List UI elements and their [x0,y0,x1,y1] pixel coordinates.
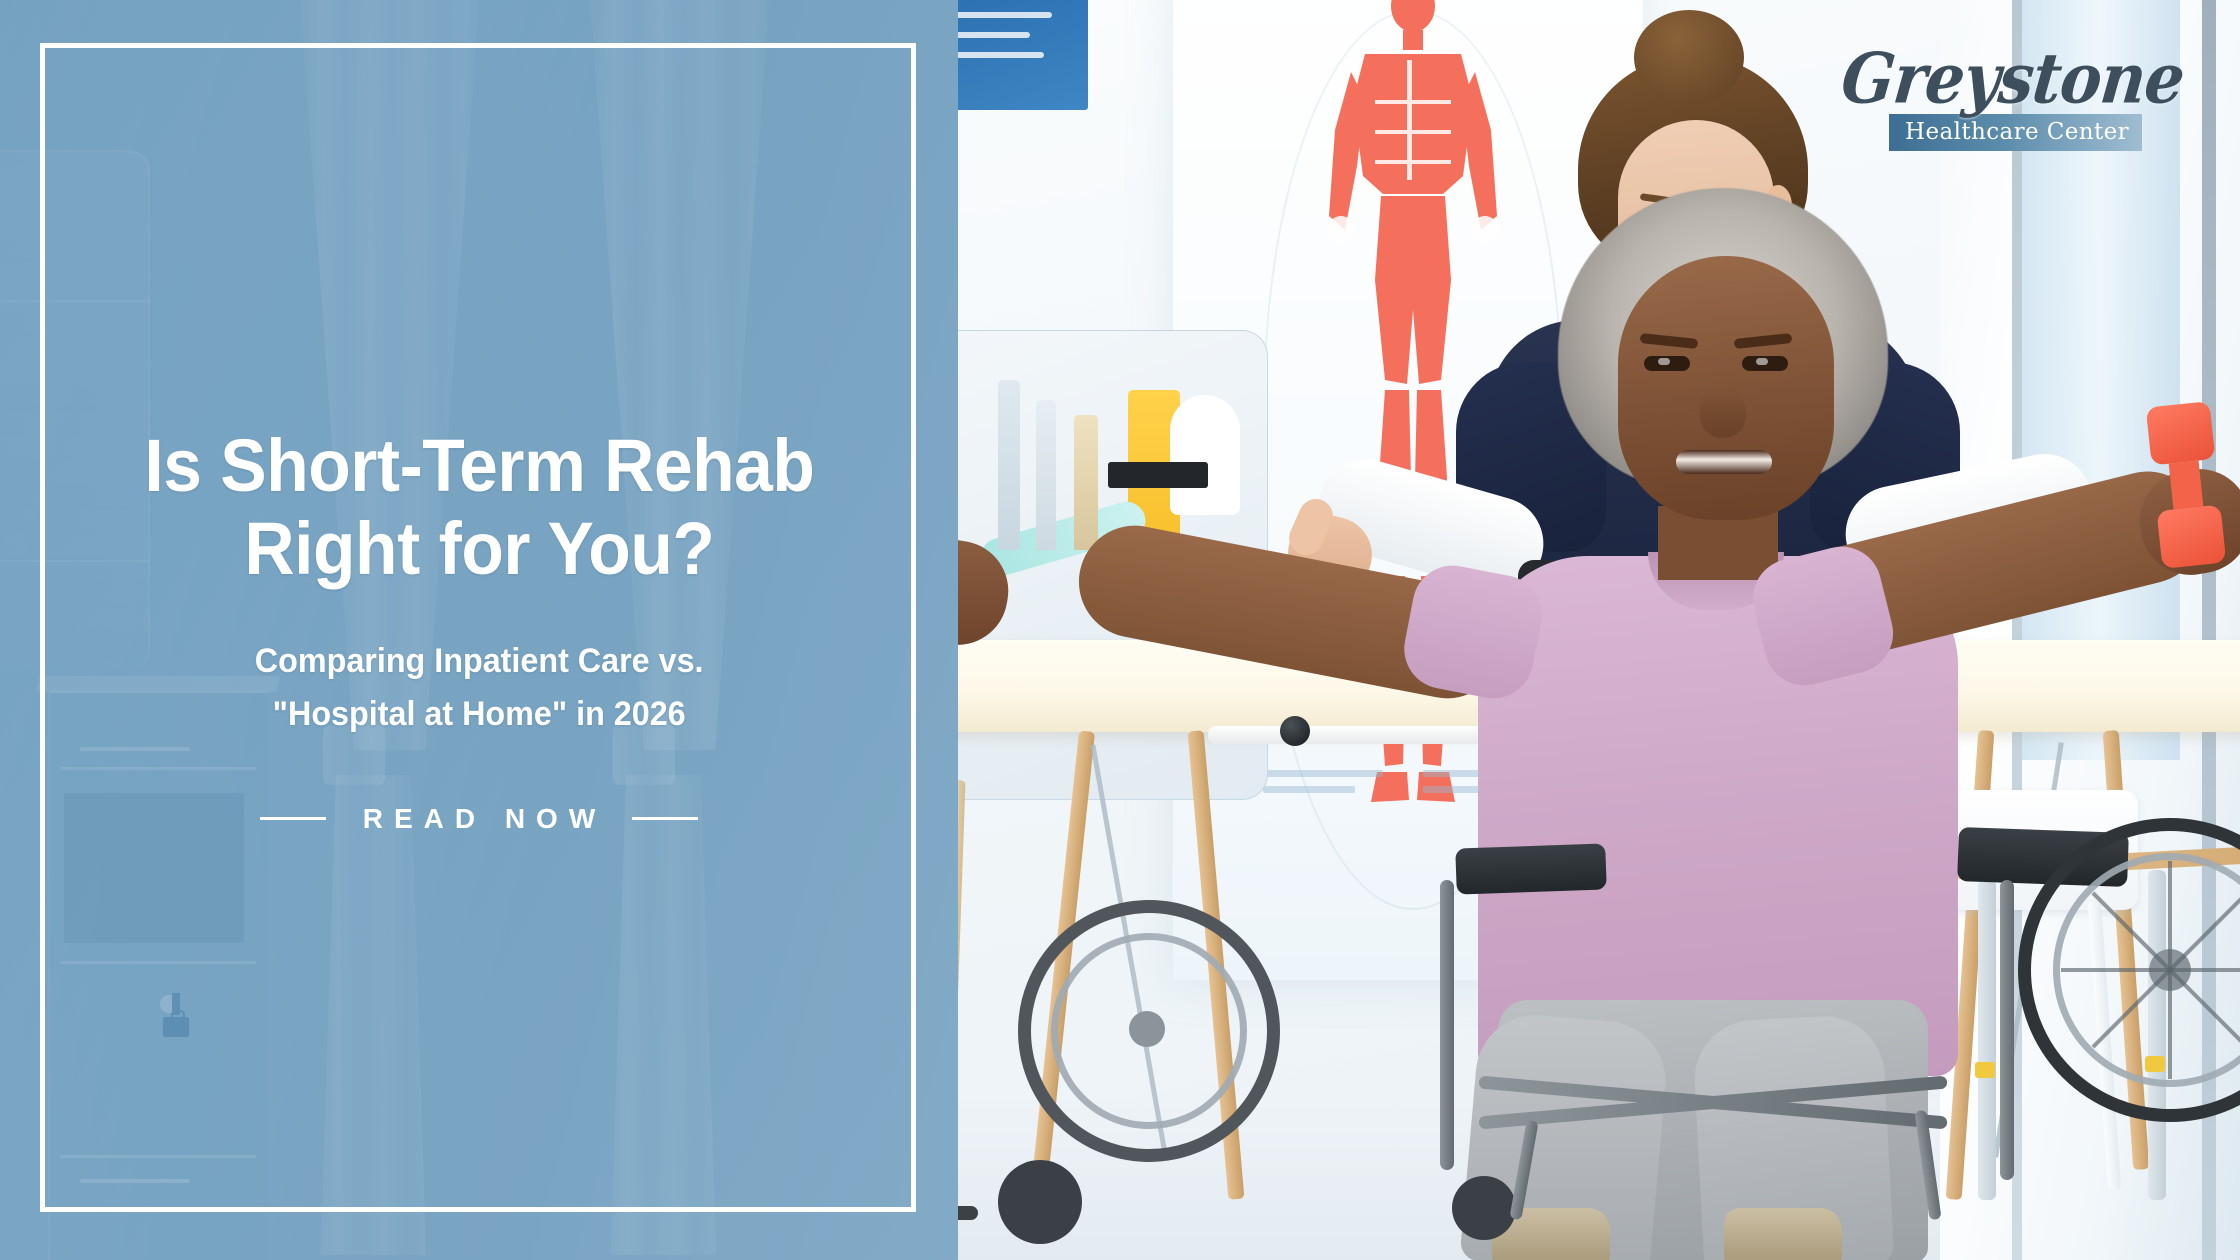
read-now-cta[interactable]: READ NOW [260,803,699,835]
supply-bottle [998,380,1020,550]
poster-caption-line [1263,770,1383,777]
subtitle-line-1: Comparing Inpatient Care vs. [255,635,704,688]
bar-adjust-knob [1975,1062,1995,1078]
patient-nose [1700,386,1746,438]
parallel-bar-post [1978,880,1996,1200]
wall-sign [958,0,1088,110]
wheelchair-frame [2000,880,2014,1180]
poster-caption-line [1263,786,1355,793]
patient-eye-highlight [1756,358,1768,365]
cta-label: READ NOW [352,803,607,835]
page-subtitle: Comparing Inpatient Care vs. "Hospital a… [255,635,704,740]
wheelchair-frame [1440,880,1454,1170]
cta-rule-left [260,817,326,820]
subtitle-line-2: "Hospital at Home" in 2026 [255,688,704,741]
left-text-panel: Is Short-Term Rehab Right for You? Compa… [0,0,958,1260]
supply-bottle-white [1170,395,1240,515]
wheelchair-caster [998,1160,1082,1244]
supply-bottle [1036,400,1056,550]
therapy-table-knob [1280,716,1310,746]
equipment-stand-foot [958,1206,978,1220]
wheelchair-armrest [1455,843,1607,894]
supply-band [1108,462,1208,488]
page-title: Is Short-Term Rehab Right for You? [144,425,814,591]
headline-block: Is Short-Term Rehab Right for You? Compa… [0,0,958,1260]
headline-line-2: Right for You? [144,508,814,591]
supply-bottle [1074,415,1098,550]
wheelchair-caster [1452,1176,1516,1240]
headline-line-1: Is Short-Term Rehab [144,425,814,508]
therapist-hair-bun [1634,10,1744,105]
patient-eye-highlight [1658,358,1670,365]
greystone-logo[interactable]: Greystone Healthcare Center [1842,48,2142,198]
logo-tagline-bar: Healthcare Center [1889,114,2142,151]
promo-banner: Is Short-Term Rehab Right for You? Compa… [0,0,2240,1260]
patient-smile [1676,450,1772,474]
cta-rule-right [632,817,698,820]
wheelchair-wheel-left [1018,900,1280,1162]
logo-wordmark: Greystone [1838,44,2145,113]
patient-shoe [1724,1208,1842,1260]
